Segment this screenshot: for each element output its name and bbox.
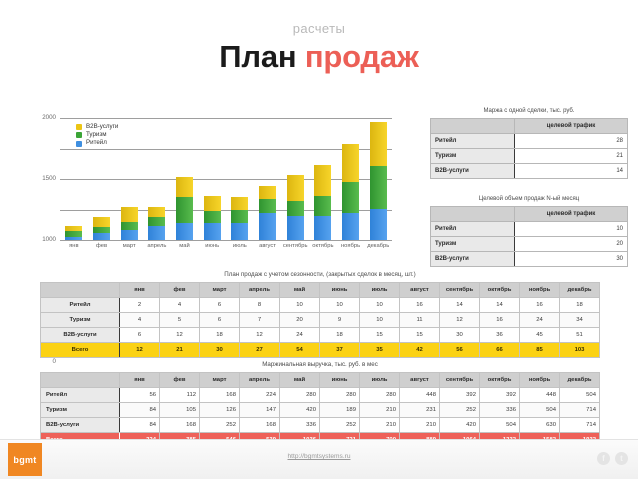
chart-stacked-bar <box>93 217 110 240</box>
table-cell: 56 <box>120 388 160 403</box>
chart-x-tick-label: апрель <box>143 240 171 250</box>
table-column-header: июль <box>360 283 400 298</box>
table-row: Туризм4567209101112162434 <box>41 313 600 328</box>
table-cell: 27 <box>240 343 280 358</box>
table-cell: 35 <box>360 343 400 358</box>
chart-x-tick-label: август <box>254 240 282 250</box>
table-row: Ритейл10 <box>431 222 628 237</box>
table-cell: 392 <box>440 388 480 403</box>
table-cell: 16 <box>480 313 520 328</box>
table-cell: 6 <box>200 313 240 328</box>
table-cell: 54 <box>280 343 320 358</box>
chart-bar-segment <box>93 233 110 240</box>
chart-bar-segment <box>370 166 387 210</box>
table-cell: 45 <box>520 328 560 343</box>
chart-x-tick-label: май <box>171 240 199 250</box>
table-cell: 18 <box>200 328 240 343</box>
table-cell: 714 <box>560 418 600 433</box>
table-cell: 252 <box>320 418 360 433</box>
chart-x-tick-label: декабрь <box>364 240 392 250</box>
table-cell: 12 <box>120 343 160 358</box>
table-corner-cell <box>431 119 515 134</box>
table-cell: 252 <box>440 403 480 418</box>
table-row: Туризм20 <box>431 237 628 252</box>
table-cell: 280 <box>360 388 400 403</box>
table-cell: 14 <box>480 298 520 313</box>
table-column-header: август <box>400 373 440 388</box>
table-column-header: сентябрь <box>440 373 480 388</box>
table-cell: 10 <box>280 298 320 313</box>
chart-bar-column <box>337 118 365 240</box>
table-cell: 6 <box>200 298 240 313</box>
table-cell: 42 <box>400 343 440 358</box>
twitter-icon[interactable]: t <box>615 452 628 465</box>
table-column-header: апрель <box>240 283 280 298</box>
table-cell: 10 <box>320 298 360 313</box>
table-row-header: Ритейл <box>41 388 120 403</box>
table-column-header: март <box>200 283 240 298</box>
chart-bar-segment <box>314 165 331 196</box>
chart-y-tick-label: 1500 <box>42 176 56 182</box>
table-cell: 15 <box>400 328 440 343</box>
table-cell: 280 <box>320 388 360 403</box>
chart-stacked-bar <box>231 197 248 240</box>
chart-bar-column <box>143 118 171 240</box>
chart-bar-segment <box>176 197 193 223</box>
table-cell: 112 <box>160 388 200 403</box>
table-cell: 21 <box>514 149 627 164</box>
table-cell: 189 <box>320 403 360 418</box>
table-cell: 24 <box>280 328 320 343</box>
table-cell: 24 <box>520 313 560 328</box>
marginal-revenue-table: Маржинальная выручка, тыс. руб. в мес ян… <box>40 362 600 448</box>
table-cell: 30 <box>440 328 480 343</box>
table-row-header: Туризм <box>431 237 515 252</box>
table-cell: 12 <box>440 313 480 328</box>
table-cell: 10 <box>514 222 627 237</box>
table-column-header: сентябрь <box>440 283 480 298</box>
page-title-part1: План <box>219 39 296 74</box>
legend-label: Туризм <box>86 132 106 138</box>
table-cell: 126 <box>200 403 240 418</box>
table-cell: 6 <box>120 328 160 343</box>
table-column-header: май <box>280 283 320 298</box>
chart-x-axis: янвфевмартапрельмайиюньиюльавгустсентябр… <box>60 240 392 250</box>
chart-bar-segment <box>204 196 221 211</box>
table-cell: 66 <box>480 343 520 358</box>
chart-bar-column <box>281 118 309 240</box>
plan-table: янвфевмартапрельмайиюньиюльавгустсентябр… <box>40 282 600 358</box>
chart-stacked-bar <box>65 226 82 240</box>
chart-bar-segment <box>148 207 165 217</box>
table-cell: 16 <box>400 298 440 313</box>
table-cell: 210 <box>360 418 400 433</box>
legend-swatch <box>76 141 82 147</box>
table-cell: 15 <box>360 328 400 343</box>
chart-bar-segment <box>148 217 165 226</box>
chart-bar-column <box>254 118 282 240</box>
table-cell: 504 <box>560 388 600 403</box>
chart-stacked-bar <box>176 177 193 240</box>
table-cell: 10 <box>360 313 400 328</box>
sales-bar-chart: 0500100015002000 янвфевмартапрельмайиюнь… <box>24 118 392 258</box>
chart-bar-column <box>226 118 254 240</box>
chart-bar-segment <box>176 223 193 240</box>
table-cell: 28 <box>514 134 627 149</box>
table-cell: 336 <box>280 418 320 433</box>
table-row: Ритейл5611216822428028028044839239244850… <box>41 388 600 403</box>
table-column-header: август <box>400 283 440 298</box>
margin-per-deal-table: Маржа с одной сделки, тыс. руб. целевой … <box>430 108 628 179</box>
chart-stacked-bar <box>287 175 304 240</box>
slide: расчеты План продаж 0500100015002000 янв… <box>0 0 638 479</box>
chart-legend: B2B-услугиТуризмРитейл <box>76 124 118 149</box>
table-corner-cell <box>41 373 120 388</box>
table-row-header: B2B-услуги <box>41 418 120 433</box>
legend-swatch <box>76 132 82 138</box>
table-cell: 14 <box>514 164 627 179</box>
chart-x-tick-label: октябрь <box>309 240 337 250</box>
chart-bar-segment <box>121 222 138 230</box>
table-cell: 103 <box>560 343 600 358</box>
table-cell: 392 <box>480 388 520 403</box>
table-cell: 34 <box>560 313 600 328</box>
chart-bar-segment <box>121 230 138 240</box>
target-volume-table: Целевой объем продаж N-ый месяц целевой … <box>430 196 628 267</box>
table-column-header: фев <box>160 283 200 298</box>
table-row-header: Ритейл <box>431 134 515 149</box>
table-cell: 504 <box>520 403 560 418</box>
table-row: B2B-услуги14 <box>431 164 628 179</box>
table-corner-cell <box>431 207 515 222</box>
legend-swatch <box>76 124 82 130</box>
table-cell: 37 <box>320 343 360 358</box>
chart-bar-segment <box>259 199 276 213</box>
table-column-header: декабрь <box>560 283 600 298</box>
chart-bar-segment <box>370 122 387 166</box>
chart-bar-segment <box>314 216 331 240</box>
table-cell: 336 <box>480 403 520 418</box>
table-cell: 448 <box>520 388 560 403</box>
table-cell: 420 <box>280 403 320 418</box>
chart-bar-segment <box>342 182 359 213</box>
table-column-header: ноябрь <box>520 283 560 298</box>
chart-bar-segment <box>370 209 387 240</box>
table-row-header: Туризм <box>431 149 515 164</box>
chart-legend-item[interactable]: Туризм <box>76 132 118 138</box>
chart-x-tick-label: сентябрь <box>281 240 309 250</box>
chart-y-tick-label: 2000 <box>42 115 56 121</box>
chart-y-tick-label: 1000 <box>42 237 56 243</box>
table-column-header: целевой трафик <box>514 119 627 134</box>
table-cell: 30 <box>200 343 240 358</box>
chart-bar-column <box>309 118 337 240</box>
table-column-header: апрель <box>240 373 280 388</box>
chart-bar-segment <box>231 197 248 210</box>
table-cell: 210 <box>400 418 440 433</box>
chart-x-tick-label: июнь <box>198 240 226 250</box>
revenue-table: янвфевмартапрельмайиюньиюльавгустсентябр… <box>40 372 600 448</box>
table-cell: 224 <box>240 388 280 403</box>
table-column-header: май <box>280 373 320 388</box>
volume-table-caption: Целевой объем продаж N-ый месяц <box>430 196 628 202</box>
legend-label: Ритейл <box>86 140 107 146</box>
table-column-header: октябрь <box>480 283 520 298</box>
chart-bar-segment <box>259 186 276 199</box>
chart-bar-segment <box>314 196 331 216</box>
table-column-header: фев <box>160 373 200 388</box>
table-cell: 7 <box>240 313 280 328</box>
chart-bar-segment <box>231 223 248 240</box>
table-cell: 84 <box>120 403 160 418</box>
legend-label: B2B-услуги <box>86 124 118 130</box>
chart-bar-column <box>115 118 143 240</box>
table-cell: 210 <box>360 403 400 418</box>
chart-bar-column <box>198 118 226 240</box>
table-cell: 280 <box>280 388 320 403</box>
margin-table-caption: Маржа с одной сделки, тыс. руб. <box>430 108 628 114</box>
table-cell: 56 <box>440 343 480 358</box>
table-row: Ритейл24681010101614141618 <box>41 298 600 313</box>
chart-bar-segment <box>287 216 304 240</box>
chart-bar-segment <box>204 223 221 240</box>
table-cell: 51 <box>560 328 600 343</box>
slide-footer: bgmt http://bgmtsystems.ru ft <box>0 439 638 479</box>
facebook-icon[interactable]: f <box>597 452 610 465</box>
chart-stacked-bar <box>204 196 221 240</box>
table-cell: 20 <box>280 313 320 328</box>
table-cell: 84 <box>120 418 160 433</box>
sales-plan-table: План продаж с учетом сезонности, (закрыт… <box>40 272 600 358</box>
table-row: Туризм8410512614742018921023125233650471… <box>41 403 600 418</box>
chart-stacked-bar <box>342 144 359 240</box>
chart-bar-segment <box>176 177 193 197</box>
table-corner-cell <box>41 283 120 298</box>
page-title-part2: продаж <box>305 39 419 74</box>
revenue-table-caption: Маржинальная выручка, тыс. руб. в мес <box>40 362 600 368</box>
table-row-header: Ритейл <box>431 222 515 237</box>
table-row-header: Туризм <box>41 403 120 418</box>
table-column-header: март <box>200 373 240 388</box>
table-cell: 85 <box>520 343 560 358</box>
table-cell: 18 <box>560 298 600 313</box>
table-cell: 168 <box>200 388 240 403</box>
plan-table-caption: План продаж с учетом сезонности, (закрыт… <box>40 272 600 278</box>
table-row: B2B-услуги61218122418151530364551 <box>41 328 600 343</box>
table-cell: 5 <box>160 313 200 328</box>
chart-bar-segment <box>342 144 359 182</box>
chart-stacked-bar <box>148 207 165 240</box>
table-cell: 147 <box>240 403 280 418</box>
table-cell: 8 <box>240 298 280 313</box>
chart-x-tick-label: июль <box>226 240 254 250</box>
table-column-header: декабрь <box>560 373 600 388</box>
chart-stacked-bar <box>370 122 387 240</box>
chart-x-tick-label: ноябрь <box>337 240 365 250</box>
table-row: B2B-услуги30 <box>431 252 628 267</box>
chart-legend-item[interactable]: Ритейл <box>76 140 118 146</box>
table-cell: 168 <box>240 418 280 433</box>
volume-table: целевой трафикРитейл10Туризм20B2B-услуги… <box>430 206 628 267</box>
table-cell: 4 <box>160 298 200 313</box>
chart-bar-segment <box>287 175 304 201</box>
chart-bar-segment <box>231 210 248 223</box>
table-cell: 420 <box>440 418 480 433</box>
table-cell: 2 <box>120 298 160 313</box>
table-cell: 630 <box>520 418 560 433</box>
slide-header: расчеты План продаж <box>0 0 638 74</box>
chart-bar-segment <box>93 217 110 227</box>
chart-legend-item[interactable]: B2B-услуги <box>76 124 118 130</box>
table-cell: 12 <box>160 328 200 343</box>
chart-x-tick-label: янв <box>60 240 88 250</box>
table-column-header: янв <box>120 373 160 388</box>
chart-stacked-bar <box>314 165 331 240</box>
chart-stacked-bar <box>259 186 276 240</box>
chart-bar-column <box>171 118 199 240</box>
table-cell: 252 <box>200 418 240 433</box>
table-cell: 231 <box>400 403 440 418</box>
table-row: Туризм21 <box>431 149 628 164</box>
table-total-row: Всего1221302754373542566685103 <box>41 343 600 358</box>
chart-x-tick-label: март <box>115 240 143 250</box>
table-row-header: Ритейл <box>41 298 120 313</box>
table-row: B2B-услуги841682521683362522102104205046… <box>41 418 600 433</box>
chart-bar-segment <box>204 211 221 223</box>
table-column-header: июнь <box>320 283 360 298</box>
table-row-header: B2B-услуги <box>41 328 120 343</box>
social-links: ft <box>597 452 628 465</box>
table-cell: 11 <box>400 313 440 328</box>
site-url-link[interactable]: http://bgmtsystems.ru <box>0 453 638 460</box>
table-cell: 16 <box>520 298 560 313</box>
chart-bar-column <box>364 118 392 240</box>
table-row: Ритейл28 <box>431 134 628 149</box>
table-cell: 9 <box>320 313 360 328</box>
table-cell: 14 <box>440 298 480 313</box>
table-cell: 105 <box>160 403 200 418</box>
table-cell: 448 <box>400 388 440 403</box>
table-cell: 12 <box>240 328 280 343</box>
chart-stacked-bar <box>121 207 138 240</box>
table-cell: 168 <box>160 418 200 433</box>
chart-x-tick-label: фев <box>88 240 116 250</box>
table-row-header: Всего <box>41 343 120 358</box>
slide-kicker: расчеты <box>0 22 638 35</box>
table-column-header: целевой трафик <box>514 207 627 222</box>
table-cell: 30 <box>514 252 627 267</box>
table-cell: 10 <box>360 298 400 313</box>
table-cell: 21 <box>160 343 200 358</box>
table-cell: 714 <box>560 403 600 418</box>
chart-bar-segment <box>287 201 304 216</box>
chart-bar-segment <box>342 213 359 240</box>
table-cell: 18 <box>320 328 360 343</box>
table-row-header: Туризм <box>41 313 120 328</box>
table-column-header: ноябрь <box>520 373 560 388</box>
margin-table: целевой трафикРитейл28Туризм21B2B-услуги… <box>430 118 628 179</box>
table-cell: 504 <box>480 418 520 433</box>
table-cell: 20 <box>514 237 627 252</box>
chart-bar-segment <box>148 226 165 240</box>
table-column-header: янв <box>120 283 160 298</box>
table-cell: 4 <box>120 313 160 328</box>
table-column-header: октябрь <box>480 373 520 388</box>
table-row-header: B2B-услуги <box>431 252 515 267</box>
table-column-header: июнь <box>320 373 360 388</box>
page-title: План продаж <box>0 41 638 74</box>
table-column-header: июль <box>360 373 400 388</box>
chart-bar-segment <box>121 207 138 222</box>
chart-bar-segment <box>259 213 276 240</box>
table-row-header: B2B-услуги <box>431 164 515 179</box>
table-cell: 36 <box>480 328 520 343</box>
